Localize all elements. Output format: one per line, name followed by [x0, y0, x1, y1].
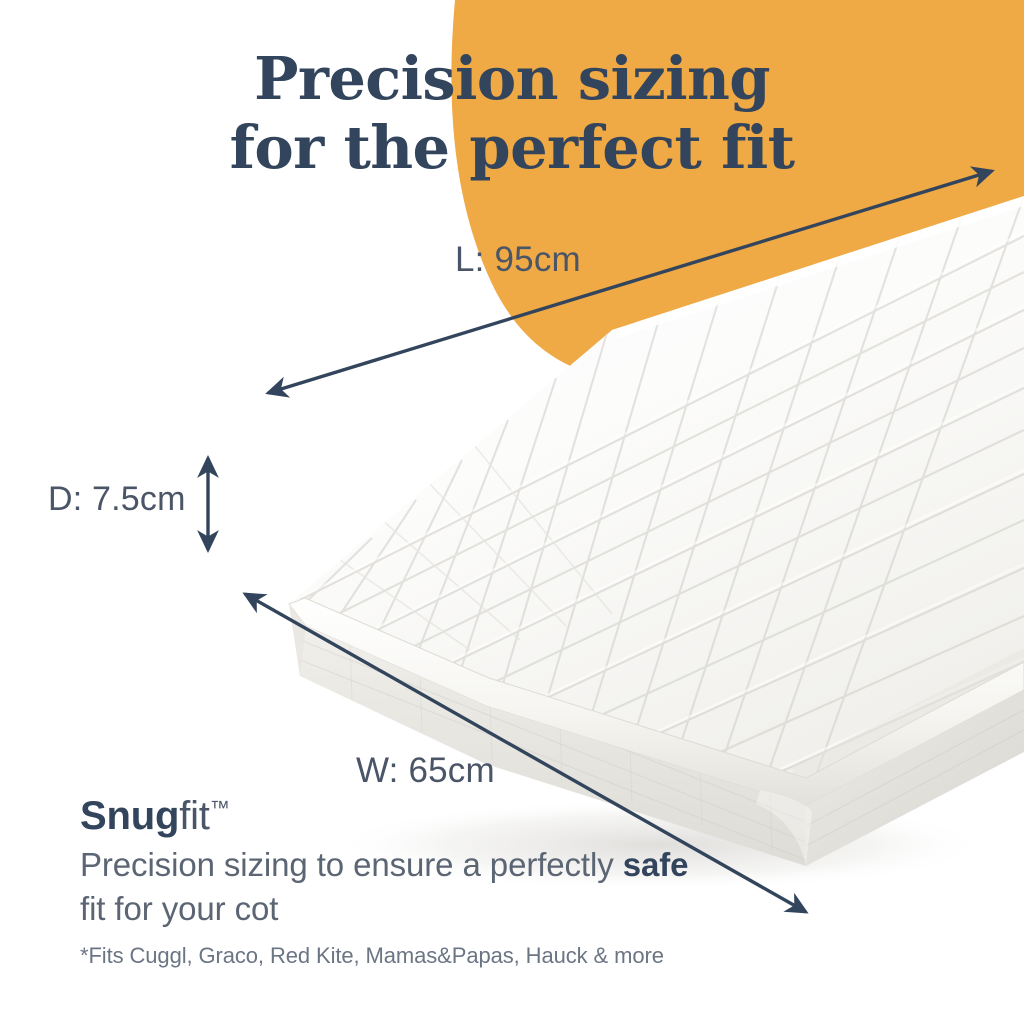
infographic-canvas: Precision sizing for the perfect fit — [0, 0, 1024, 1025]
compatibility-footnote: *Fits Cuggl, Graco, Red Kite, Mamas&Papa… — [80, 942, 720, 971]
headline: Precision sizing for the perfect fit — [0, 44, 1024, 182]
trademark-symbol: ™ — [210, 798, 230, 820]
brand-lockup: Snugfit™ — [80, 795, 720, 837]
depth-dimension-label: D: 7.5cm — [48, 480, 186, 519]
product-copy-block: Snugfit™ Precision sizing to ensure a pe… — [80, 795, 720, 971]
product-tagline: Precision sizing to ensure a perfectly s… — [80, 843, 720, 930]
brand-name-light: fit — [179, 794, 210, 838]
length-dimension-label: L: 95cm — [455, 240, 581, 280]
tagline-emphasis: safe — [623, 846, 689, 883]
headline-line-1: Precision sizing — [0, 44, 1024, 113]
headline-line-2: for the perfect fit — [0, 113, 1024, 182]
tagline-part-1: Precision sizing to ensure a perfectly — [80, 846, 623, 883]
tagline-part-2: fit for your cot — [80, 890, 278, 927]
width-dimension-label: W: 65cm — [356, 751, 495, 791]
brand-name-strong: Snug — [80, 794, 179, 838]
